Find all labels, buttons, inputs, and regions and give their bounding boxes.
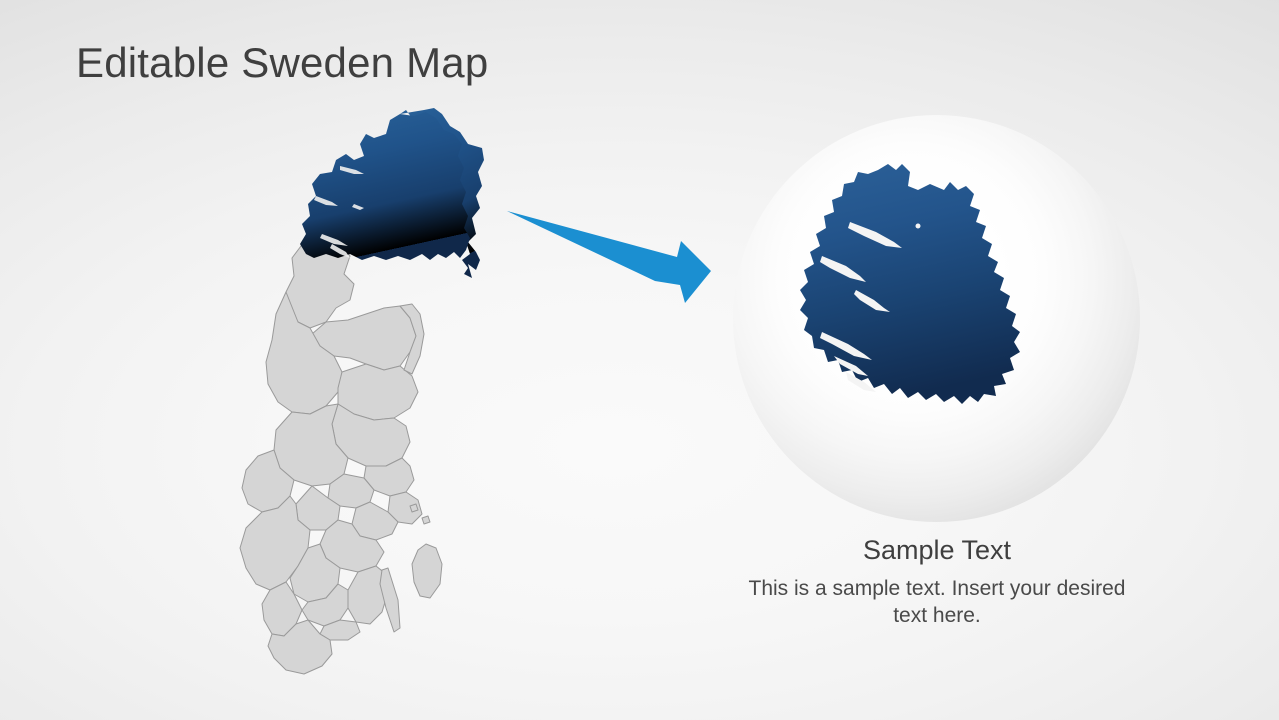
caption-block: Sample Text This is a sample text. Inser… [735, 534, 1139, 630]
caption-body: This is a sample text. Insert your desir… [735, 575, 1139, 630]
map-region-gotland[interactable] [412, 544, 442, 598]
sweden-map-svg [214, 108, 504, 678]
zoom-region-svg [798, 160, 1078, 460]
map-region-islet-1 [422, 516, 430, 524]
caption-heading: Sample Text [735, 534, 1139, 568]
slide-canvas: Editable Sweden Map [0, 0, 1279, 720]
map-region-islet-2 [410, 504, 418, 512]
callout-arrow [505, 195, 725, 310]
zoom-region-norrbotten[interactable] [800, 164, 1020, 404]
page-title: Editable Sweden Map [76, 39, 488, 87]
sweden-map[interactable] [214, 108, 504, 678]
arrow-shape [507, 211, 711, 303]
zoom-region[interactable] [798, 160, 1078, 460]
